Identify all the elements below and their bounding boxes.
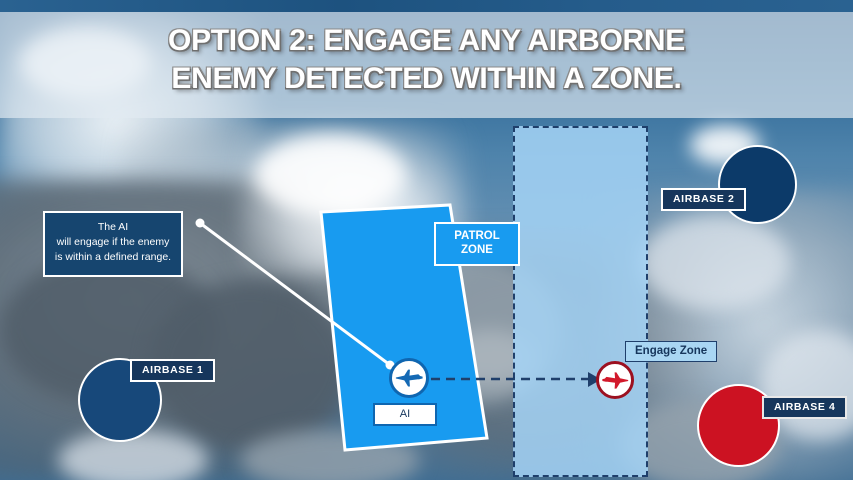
airbase-2-marker[interactable] (718, 145, 797, 224)
fighter-jet-icon[interactable] (389, 358, 429, 398)
page-title: OPTION 2: ENGAGE ANY AIRBORNE ENEMY DETE… (0, 22, 853, 99)
callout-line-2: will engage if the enemy (54, 235, 172, 250)
top-accent-strip (0, 0, 853, 12)
airbase-2-label[interactable]: AIRBASE 2 (661, 188, 746, 211)
ai-unit-label[interactable]: AI (373, 403, 437, 426)
callout-line-1: The AI (54, 220, 172, 235)
patrol-zone-label-line-1: PATROL (442, 229, 512, 243)
patrol-zone-label-line-2: ZONE (442, 243, 512, 257)
fighter-jet-glyph (394, 363, 424, 393)
enemy-fighter-jet-glyph (601, 366, 630, 395)
title-line-2: ENEMY DETECTED WITHIN A ZONE. (0, 60, 853, 98)
engage-zone-label[interactable]: Engage Zone (625, 341, 717, 362)
title-line-1: OPTION 2: ENGAGE ANY AIRBORNE (168, 24, 685, 57)
enemy-fighter-jet-icon[interactable] (596, 361, 634, 399)
callout-line-3: is within a defined range. (54, 250, 172, 265)
cloud (640, 215, 790, 310)
engage-zone-area[interactable] (513, 126, 648, 477)
airbase-1-label[interactable]: AIRBASE 1 (130, 359, 215, 382)
airbase-4-label[interactable]: AIRBASE 4 (762, 396, 847, 419)
ai-behaviour-callout: The AI will engage if the enemy is withi… (43, 211, 183, 277)
patrol-zone-label[interactable]: PATROL ZONE (434, 222, 520, 266)
cloud (255, 135, 405, 215)
slide-canvas: OPTION 2: ENGAGE ANY AIRBORNE ENEMY DETE… (0, 0, 853, 480)
